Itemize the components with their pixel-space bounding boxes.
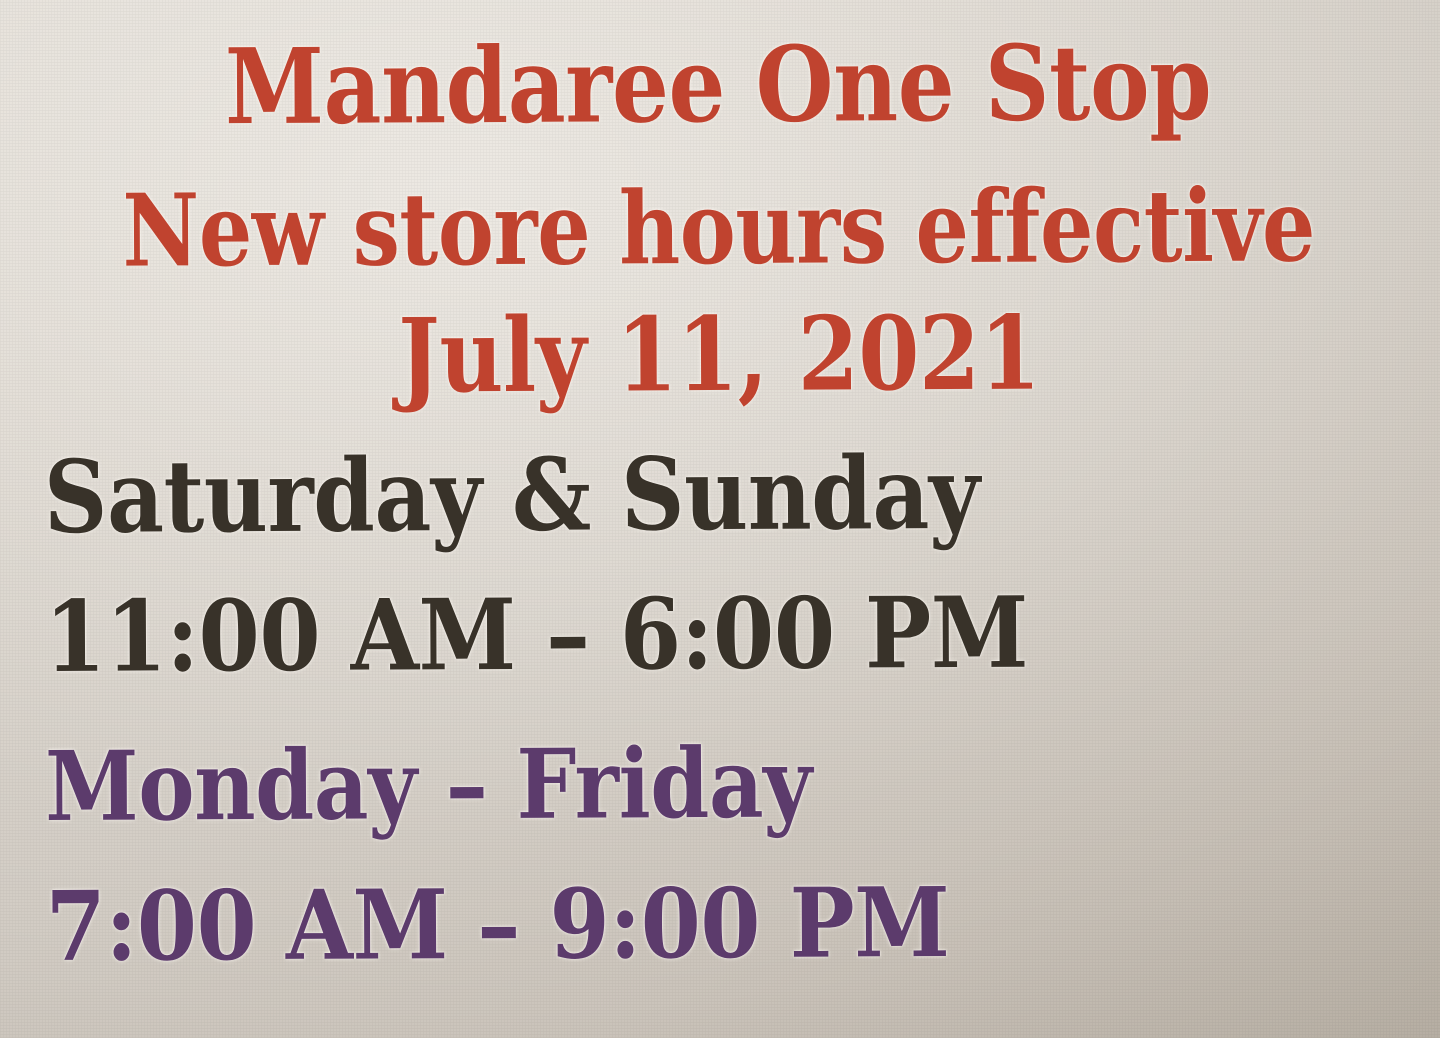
weekend-hours-label: 11:00 AM – 6:00 PM: [44, 585, 1028, 687]
store-hours-sign: Mandaree One Stop New store hours effect…: [0, 0, 1440, 1038]
weekend-days-label: Saturday & Sunday: [44, 443, 980, 547]
sign-content: Mandaree One Stop New store hours effect…: [0, 0, 1440, 1038]
effective-date-heading: July 11, 2021: [100, 301, 1339, 408]
weekday-hours-label: 7:00 AM – 9:00 PM: [46, 875, 950, 975]
weekday-days-label: Monday – Friday: [45, 736, 812, 835]
notice-heading: New store hours effective: [114, 175, 1324, 280]
store-name-heading: Mandaree One Stop: [99, 30, 1338, 139]
